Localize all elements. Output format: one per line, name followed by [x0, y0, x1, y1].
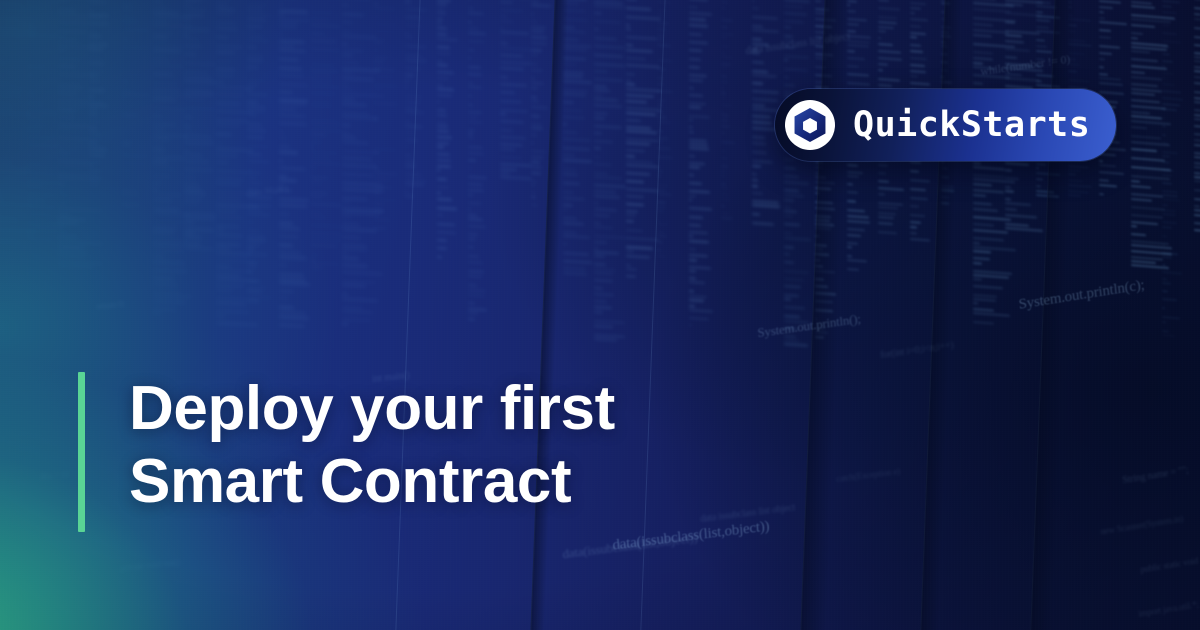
quickstarts-badge-label: QuickStarts	[853, 108, 1090, 143]
page-title: Deploy your first Smart Contract	[129, 372, 615, 532]
banner-root: System.out.println(c);System.out.println…	[0, 0, 1200, 630]
quickstarts-badge[interactable]: QuickStarts	[775, 89, 1116, 161]
chainlink-hexagon-icon	[785, 100, 835, 150]
headline-accent-bar	[78, 372, 85, 532]
headline-block: Deploy your first Smart Contract	[78, 372, 615, 532]
headline-line-2: Smart Contract	[129, 445, 615, 518]
headline-line-1: Deploy your first	[129, 372, 615, 445]
